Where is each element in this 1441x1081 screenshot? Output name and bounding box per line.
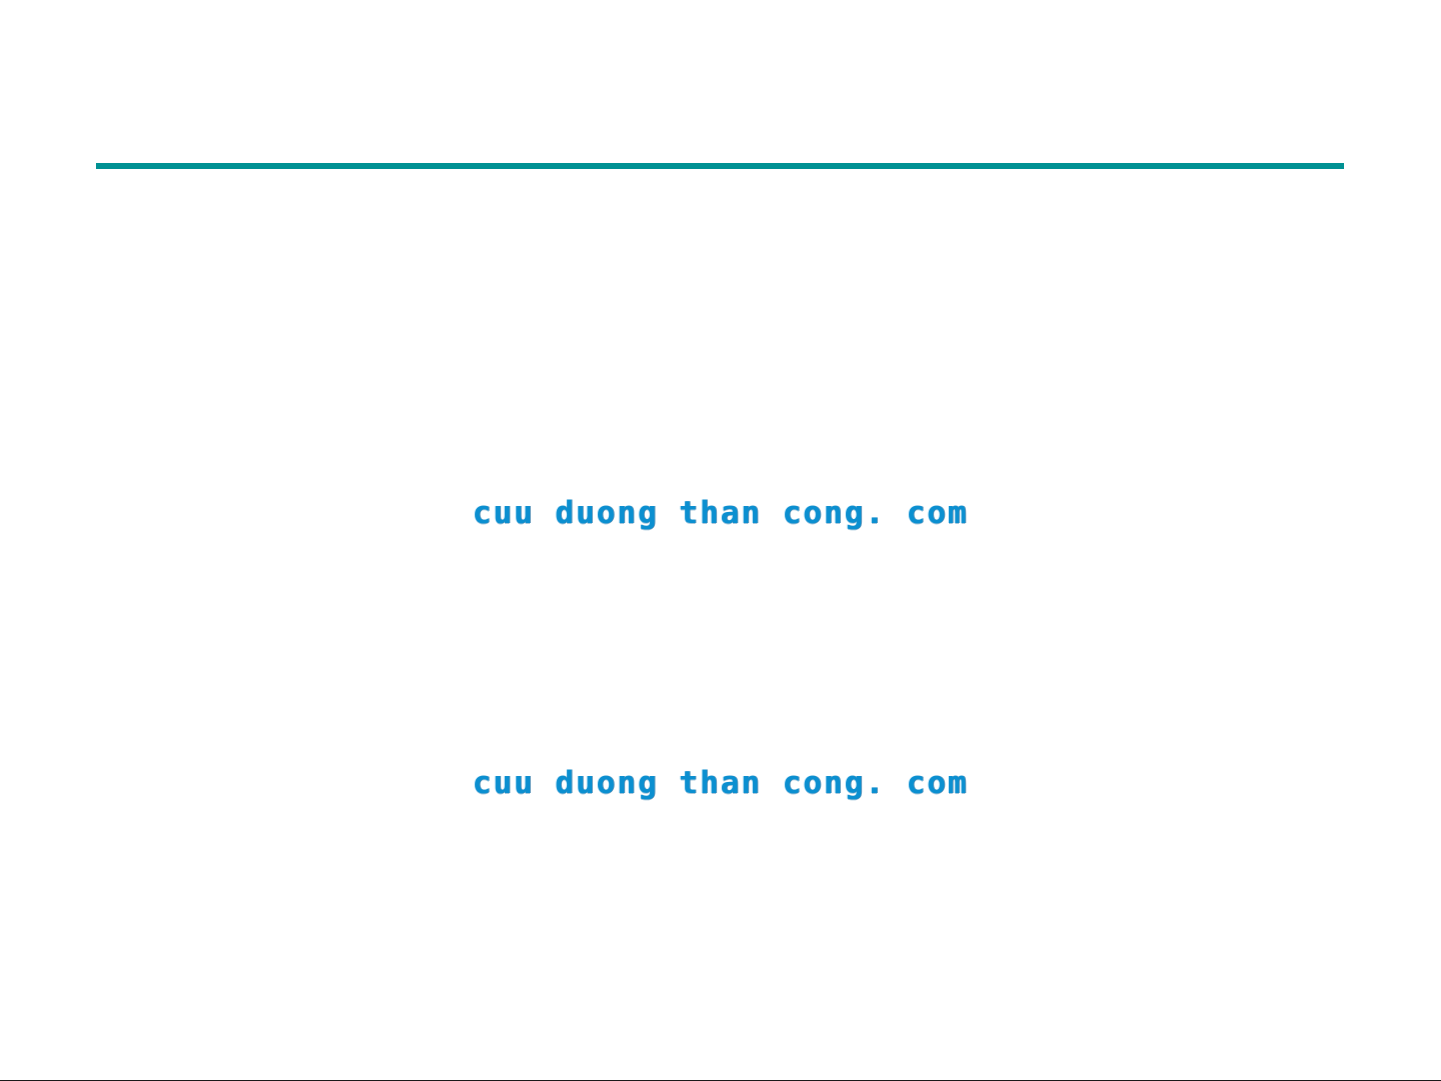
watermark-text-top: cuu duong than cong. com xyxy=(0,498,1441,529)
watermark-text-bottom: cuu duong than cong. com xyxy=(0,768,1441,799)
slide-content-area xyxy=(96,190,1344,1050)
header-divider-rule xyxy=(96,163,1344,169)
slide-canvas: cuu duong than cong. com cuu duong than … xyxy=(0,0,1441,1081)
